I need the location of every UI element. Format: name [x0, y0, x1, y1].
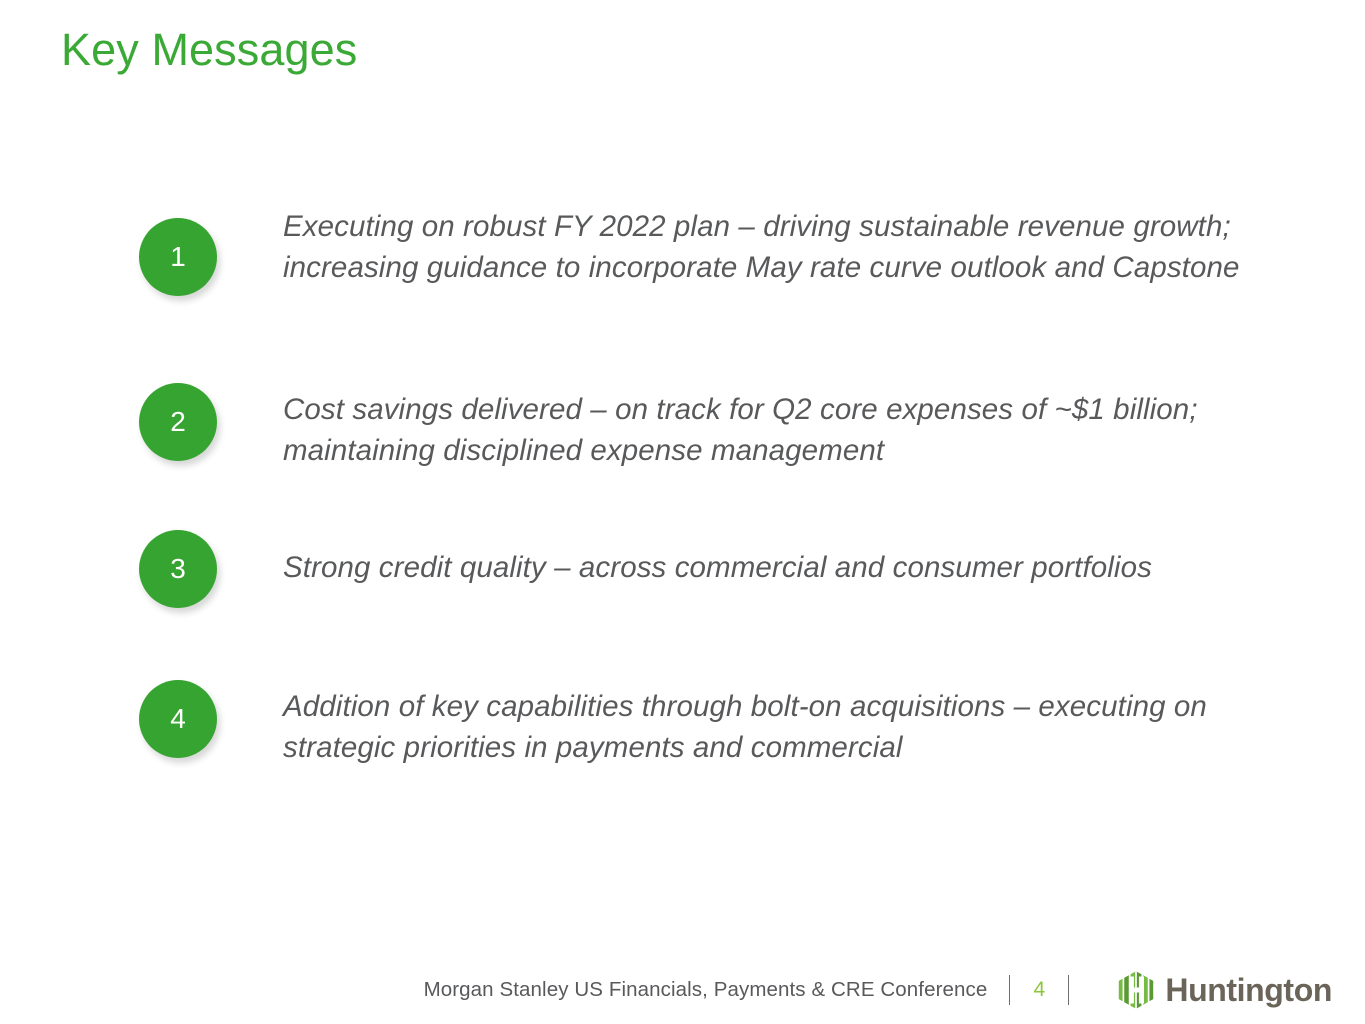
page-title: Key Messages — [61, 22, 357, 78]
footer-conference-name: Morgan Stanley US Financials, Payments &… — [424, 978, 988, 1002]
list-item: 3 Strong credit quality – across commerc… — [139, 530, 1265, 608]
message-number-badge: 3 — [139, 530, 217, 608]
huntington-hexagon-h-icon — [1115, 969, 1157, 1011]
message-text: Strong credit quality – across commercia… — [283, 547, 1265, 588]
message-number-badge: 4 — [139, 680, 217, 758]
slide: Key Messages 1 Executing on robust FY 20… — [0, 0, 1365, 1024]
list-item: 1 Executing on robust FY 2022 plan – dri… — [139, 206, 1265, 296]
list-item: 4 Addition of key capabilities through b… — [139, 680, 1265, 768]
page-number: 4 — [1032, 978, 1046, 1002]
huntington-logo: Huntington — [1115, 969, 1332, 1011]
message-text: Executing on robust FY 2022 plan – drivi… — [283, 206, 1243, 288]
message-number-badge: 2 — [139, 383, 217, 461]
huntington-wordmark: Huntington — [1165, 974, 1332, 1006]
list-item: 2 Cost savings delivered – on track for … — [139, 383, 1265, 471]
footer-divider-right — [1068, 975, 1069, 1005]
message-text: Cost savings delivered – on track for Q2… — [283, 389, 1265, 471]
footer-divider-left — [1009, 975, 1010, 1005]
message-number-badge: 1 — [139, 218, 217, 296]
footer: Morgan Stanley US Financials, Payments &… — [0, 956, 1365, 1024]
message-text: Addition of key capabilities through bol… — [283, 686, 1265, 768]
